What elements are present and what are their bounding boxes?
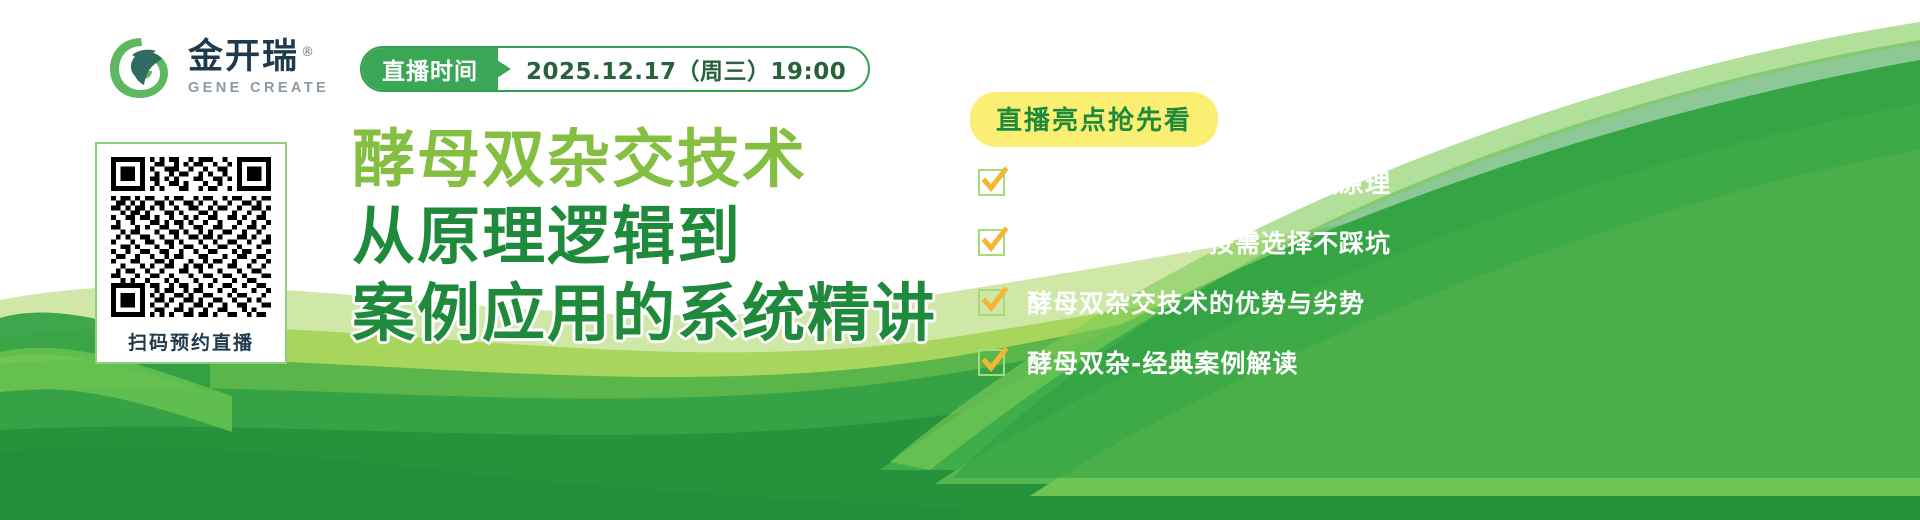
list-item: 酵母双杂-经典案例解读 [978,344,1391,380]
webinar-banner: 金开瑞® GENE CREATE 直播时间 2025.12.17（周三）19:0… [0,0,1920,520]
list-item: 酵母双杂交技术的优势与劣势 [978,284,1391,320]
live-time-label: 直播时间 [360,46,498,92]
check-mark-icon [978,349,1005,376]
live-time-pill: 直播时间 2025.12.17（周三）19:00 [360,46,870,92]
page-title: 酵母双杂交技术 从原理逻辑到 案例应用的系统精讲 [352,128,937,359]
list-item-label: 两大技术体系：按需选择不踩坑 [1027,224,1391,260]
brand-logo: 金开瑞® GENE CREATE [108,36,329,100]
highlights-badge: 直播亮点抢先看 [970,92,1218,147]
title-line-1: 酵母双杂交技术 [352,128,937,191]
check-mark-icon [978,229,1005,256]
qr-caption: 扫码预约直播 [128,328,254,355]
title-line-2: 从原理逻辑到 [352,205,937,268]
registered-mark: ® [301,45,316,60]
list-item: 酵母双杂交技术实验背景及原理 [978,164,1391,200]
list-item: 两大技术体系：按需选择不踩坑 [978,224,1391,260]
check-mark-icon [978,169,1005,196]
list-item-label: 酵母双杂-经典案例解读 [1027,344,1298,380]
list-item-label: 酵母双杂交技术的优势与劣势 [1027,284,1365,320]
brand-name-en: GENE CREATE [188,81,329,96]
check-mark-icon [978,289,1005,316]
live-time-value: 2025.12.17（周三）19:00 [498,48,868,90]
qr-code[interactable] [111,157,271,317]
title-line-3: 案例应用的系统精讲 [352,282,937,345]
brand-name-cn-text: 金开瑞 [188,37,299,77]
list-item-label: 酵母双杂交技术实验背景及原理 [1027,164,1391,200]
qr-card[interactable]: 扫码预约直播 [95,142,287,364]
brand-wordmark: 金开瑞® GENE CREATE [188,40,329,96]
brand-name-cn: 金开瑞® [188,40,329,75]
highlights-list: 酵母双杂交技术实验背景及原理 两大技术体系：按需选择不踩坑 酵母双杂交技术的优势… [978,164,1391,380]
gene-create-leaf-logo-icon [108,36,174,100]
